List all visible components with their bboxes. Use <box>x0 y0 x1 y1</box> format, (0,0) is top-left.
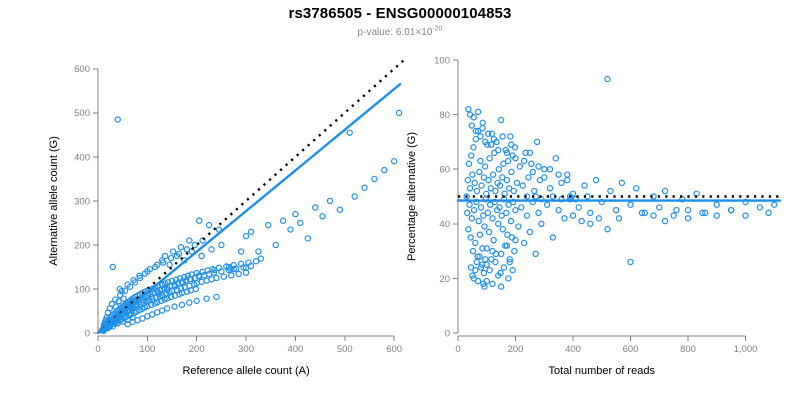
data-point <box>532 188 537 193</box>
data-point <box>576 205 581 210</box>
data-point <box>487 268 492 273</box>
data-point <box>473 240 478 245</box>
data-point <box>465 178 470 183</box>
data-point <box>501 265 506 270</box>
data-point <box>473 268 478 273</box>
data-point <box>509 142 514 147</box>
data-point <box>743 213 748 218</box>
data-point <box>293 212 298 217</box>
data-point <box>487 156 492 161</box>
data-point <box>530 169 535 174</box>
y-axis-title: Percentage alternative (G) <box>406 132 418 261</box>
data-point <box>605 77 610 82</box>
data-point <box>347 130 352 135</box>
data-point <box>305 236 310 241</box>
data-point <box>490 281 495 286</box>
y-tick-label: 600 <box>74 64 90 75</box>
data-point <box>588 221 593 226</box>
data-point <box>258 256 263 261</box>
data-point <box>499 251 504 256</box>
data-point <box>634 186 639 191</box>
percentage-alternative-scatter-plot: 02040608010002004006008001,000Total numb… <box>380 0 800 400</box>
y-tick-label: 100 <box>434 55 450 66</box>
data-point <box>674 208 679 213</box>
data-point <box>214 275 219 280</box>
data-point <box>476 109 481 114</box>
data-point <box>206 223 211 228</box>
data-point <box>256 249 261 254</box>
data-point <box>482 164 487 169</box>
y-tick-label: 40 <box>439 219 450 230</box>
data-point <box>480 126 485 131</box>
data-point <box>499 284 504 289</box>
x-tick-label: 0 <box>95 344 100 355</box>
data-point <box>194 298 199 303</box>
data-point <box>533 251 538 256</box>
data-point <box>469 153 474 158</box>
data-point <box>519 205 524 210</box>
y-tick-label: 0 <box>445 328 450 339</box>
regression-line <box>98 84 400 333</box>
data-point <box>505 158 510 163</box>
data-point <box>479 183 484 188</box>
y-tick-label: 500 <box>74 108 90 119</box>
y-tick-label: 100 <box>74 284 90 295</box>
y-tick-label: 400 <box>74 152 90 163</box>
data-point <box>508 134 513 139</box>
data-point <box>486 229 491 234</box>
data-point <box>468 235 473 240</box>
data-point <box>526 175 531 180</box>
data-point <box>327 198 332 203</box>
x-axis <box>98 336 394 341</box>
data-point <box>313 205 318 210</box>
data-point <box>524 213 529 218</box>
data-point <box>110 264 115 269</box>
data-point <box>500 227 505 232</box>
data-point <box>562 216 567 221</box>
data-point <box>199 253 204 258</box>
data-point <box>582 183 587 188</box>
data-point <box>496 221 501 226</box>
data-point <box>476 218 481 223</box>
data-point <box>192 242 197 247</box>
y-tick-label: 20 <box>439 274 450 285</box>
x-tick-label: 200 <box>189 344 205 355</box>
data-point <box>481 270 486 275</box>
data-point <box>616 216 621 221</box>
data-point <box>248 229 253 234</box>
data-point <box>486 178 491 183</box>
x-tick-label: 100 <box>139 344 155 355</box>
data-point <box>559 180 564 185</box>
data-point <box>477 232 482 237</box>
data-point <box>465 210 470 215</box>
data-point <box>547 167 552 172</box>
data-point <box>490 172 495 177</box>
data-point <box>221 274 226 279</box>
x-axis-title: Reference allele count (A) <box>182 365 309 377</box>
data-point <box>516 224 521 229</box>
data-point <box>522 240 527 245</box>
data-point <box>469 216 474 221</box>
x-tick-label: 0 <box>455 344 460 355</box>
data-point <box>280 218 285 223</box>
data-point <box>685 208 690 213</box>
data-point <box>467 202 472 207</box>
data-point <box>478 205 483 210</box>
data-point <box>509 169 514 174</box>
data-point <box>466 227 471 232</box>
data-point <box>483 257 488 262</box>
x-axis <box>458 336 746 341</box>
data-point <box>187 300 192 305</box>
x-tick-label: 600 <box>623 344 639 355</box>
data-point <box>467 186 472 191</box>
data-point <box>471 115 476 120</box>
data-point <box>470 172 475 177</box>
data-point <box>320 214 325 219</box>
data-point <box>178 245 183 250</box>
data-point <box>512 249 517 254</box>
data-point <box>550 235 555 240</box>
data-point <box>596 216 601 221</box>
data-point <box>662 218 667 223</box>
y-axis <box>93 69 98 333</box>
data-point <box>671 213 676 218</box>
data-point <box>619 180 624 185</box>
data-point <box>476 279 481 284</box>
data-point <box>714 202 719 207</box>
data-point <box>219 242 224 247</box>
data-point <box>372 176 377 181</box>
data-point <box>163 253 168 258</box>
data-point <box>179 302 184 307</box>
x-tick-label: 400 <box>565 344 581 355</box>
y-axis-title: Alternative allele count (G) <box>48 136 60 266</box>
data-point <box>714 213 719 218</box>
data-point <box>542 167 547 172</box>
data-point <box>209 247 214 252</box>
scatter-points <box>99 110 401 333</box>
data-point <box>766 210 771 215</box>
allele-count-scatter-plot: 01002003004005006000100200300400500600Re… <box>0 0 420 400</box>
x-tick-label: 200 <box>508 344 524 355</box>
y-tick-label: 300 <box>74 196 90 207</box>
data-point <box>469 123 474 128</box>
data-point <box>504 178 509 183</box>
x-tick-label: 400 <box>287 344 303 355</box>
data-point <box>565 172 570 177</box>
data-point <box>472 208 477 213</box>
data-point <box>362 185 367 190</box>
data-point <box>123 288 128 293</box>
data-point <box>488 142 493 147</box>
data-point <box>239 249 244 254</box>
data-point <box>553 156 558 161</box>
allele-count-panel: 01002003004005006000100200300400500600Re… <box>0 0 420 400</box>
data-point <box>588 210 593 215</box>
data-point <box>482 224 487 229</box>
data-point <box>539 221 544 226</box>
data-point <box>187 238 192 243</box>
data-point <box>579 218 584 223</box>
x-tick-label: 300 <box>238 344 254 355</box>
data-point <box>115 117 120 122</box>
reference-diagonal <box>98 60 404 333</box>
data-point <box>167 262 172 267</box>
y-axis <box>453 60 458 333</box>
data-point <box>165 306 170 311</box>
scatter-points <box>464 77 777 290</box>
x-axis-title: Total number of reads <box>549 365 656 377</box>
data-point <box>614 208 619 213</box>
data-point <box>298 220 303 225</box>
data-point <box>522 158 527 163</box>
data-point <box>657 205 662 210</box>
y-tick-label: 60 <box>439 165 450 176</box>
data-point <box>772 202 777 207</box>
x-tick-label: 1,000 <box>734 344 758 355</box>
data-point <box>536 164 541 169</box>
data-point <box>170 249 175 254</box>
y-tick-label: 80 <box>439 110 450 121</box>
data-point <box>172 304 177 309</box>
data-point <box>472 180 477 185</box>
data-point <box>337 207 342 212</box>
data-point <box>266 223 271 228</box>
data-point <box>477 169 482 174</box>
data-point <box>486 131 491 136</box>
data-point <box>474 259 479 264</box>
data-point <box>478 158 483 163</box>
data-point <box>547 186 552 191</box>
data-point <box>480 120 485 125</box>
data-point <box>236 271 241 276</box>
data-point <box>651 213 656 218</box>
data-point <box>605 227 610 232</box>
figure-root: rs3786505 - ENSG00000104853 p-value: 6.0… <box>0 0 800 400</box>
data-point <box>506 276 511 281</box>
data-point <box>510 268 515 273</box>
data-point <box>608 188 613 193</box>
data-point <box>273 242 278 247</box>
data-point <box>520 183 525 188</box>
data-point <box>527 229 532 234</box>
data-point <box>514 180 519 185</box>
data-point <box>513 208 518 213</box>
data-point <box>500 134 505 139</box>
x-tick-label: 500 <box>337 344 353 355</box>
data-point <box>352 194 357 199</box>
data-point <box>504 210 509 215</box>
data-point <box>662 188 667 193</box>
percentage-alternative-panel: 02040608010002004006008001,000Total numb… <box>380 0 800 400</box>
data-point <box>214 294 219 299</box>
data-point <box>628 202 633 207</box>
data-point <box>496 167 501 172</box>
data-point <box>517 164 522 169</box>
data-point <box>685 216 690 221</box>
data-point <box>542 175 547 180</box>
data-point <box>466 107 471 112</box>
data-point <box>508 218 513 223</box>
data-point <box>729 208 734 213</box>
y-tick-label: 200 <box>74 240 90 251</box>
data-point <box>288 227 293 232</box>
data-point <box>570 213 575 218</box>
data-point <box>757 205 762 210</box>
data-point <box>536 210 541 215</box>
data-point <box>628 259 633 264</box>
data-point <box>491 238 496 243</box>
data-point <box>493 188 498 193</box>
data-point <box>253 259 258 264</box>
data-point <box>556 172 561 177</box>
data-point <box>168 256 173 261</box>
data-point <box>204 296 209 301</box>
data-point <box>511 188 516 193</box>
data-point <box>478 134 483 139</box>
data-point <box>197 218 202 223</box>
data-point <box>485 210 490 215</box>
data-point <box>496 147 501 152</box>
data-point <box>593 178 598 183</box>
data-point <box>466 161 471 166</box>
x-tick-label: 800 <box>680 344 696 355</box>
data-point <box>493 259 498 264</box>
data-point <box>471 145 476 150</box>
data-point <box>545 202 550 207</box>
data-point <box>243 234 248 239</box>
data-point <box>529 161 534 166</box>
data-point <box>474 188 479 193</box>
data-point <box>499 117 504 122</box>
y-tick-label: 0 <box>85 328 90 339</box>
data-point <box>229 273 234 278</box>
data-point <box>556 208 561 213</box>
data-point <box>490 216 495 221</box>
data-point <box>565 178 570 183</box>
data-point <box>534 139 539 144</box>
data-point <box>470 249 475 254</box>
